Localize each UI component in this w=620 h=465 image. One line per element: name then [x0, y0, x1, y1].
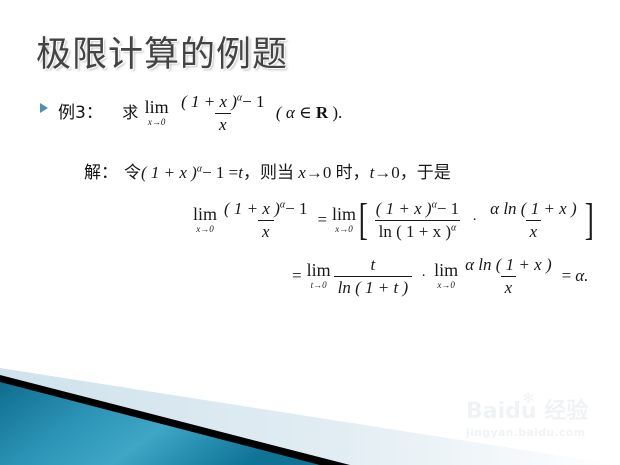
line1-dot: ·	[472, 212, 477, 229]
example-label: 例3：	[58, 103, 103, 123]
f1-denominator: ln ( 1 + x )α	[375, 220, 461, 242]
page-title: 极限计算的例题	[36, 26, 288, 77]
solution-comma1: ，则当	[243, 163, 294, 182]
line2-result-equals: =	[562, 266, 572, 286]
line2-dot: ·	[421, 268, 426, 285]
derivation-line-2: = lim t→0 t ln ( 1 + t ) · lim x→0 α ln …	[0, 255, 620, 297]
f1-num-base: ( 1 + x )	[376, 199, 432, 218]
rhs-limit-subscript: x→0	[335, 224, 353, 235]
line2-limit-2: lim x→0	[434, 261, 458, 291]
line1-fraction-2: α ln ( 1 + x ) x	[486, 199, 581, 241]
bracket-close: ]	[584, 204, 593, 236]
example-prefix: 求	[122, 105, 138, 122]
line2-fraction-1: t ln ( 1 + t )	[334, 255, 413, 297]
numerator-tail: − 1	[242, 92, 264, 111]
solution-arrow-zero-1: →0	[306, 163, 332, 182]
solution-text: 令( 1 + x )α− 1 =t，则当 x→0 时，t→0，于是	[124, 158, 451, 183]
f1-numerator: ( 1 + x )α− 1	[372, 199, 463, 220]
lhs-numerator: ( 1 + x )α− 1	[220, 199, 311, 220]
condition-close: ).	[328, 103, 342, 122]
line2-equals: =	[292, 266, 302, 286]
solution-var-x: x	[298, 163, 306, 182]
solution-expr-tail: − 1 =	[202, 163, 238, 182]
solution-row: 解： 令( 1 + x )α− 1 =t，则当 x→0 时，t→0，于是	[0, 158, 620, 183]
solution-arrow-zero-2: →0	[374, 163, 400, 182]
rhs-limit-operator: lim	[332, 205, 356, 223]
example-line: 例3： 求 lim x→0 ( 1 + x )α− 1 x ( α ∈ R ).	[58, 92, 342, 134]
line2-limit-1-operator: lim	[307, 261, 331, 279]
rhs-limit: lim x→0	[332, 205, 356, 235]
solution-expr-base: ( 1 + x )	[141, 163, 197, 182]
example-condition: ( α ∈ R ).	[276, 103, 342, 122]
line2-limit-1-subscript: t→0	[311, 280, 327, 291]
solution-tail: ，于是	[400, 163, 451, 182]
limit-subscript: x→0	[148, 117, 166, 128]
lhs-fraction: ( 1 + x )α− 1 x	[220, 199, 311, 241]
solution-label: 解：	[84, 158, 118, 183]
triangle-right-icon	[40, 103, 48, 113]
line1-equals: =	[317, 210, 327, 230]
example-bullet-row: 例3： 求 lim x→0 ( 1 + x )α− 1 x ( α ∈ R ).	[0, 92, 620, 134]
lhs-limit-subscript: x→0	[196, 224, 214, 235]
derivation-line-1: lim x→0 ( 1 + x )α− 1 x = lim x→0 [ ( 1 …	[0, 199, 620, 241]
lhs-limit-operator: lim	[193, 205, 217, 223]
fraction-numerator: ( 1 + x )α− 1	[177, 92, 268, 113]
fraction-denominator: x	[215, 113, 231, 135]
diagonal-band-decoration	[0, 355, 620, 465]
f1-den-function: ln ( 1 + x )	[379, 222, 451, 241]
numerator-base: ( 1 + x )	[181, 92, 237, 111]
example-fraction: ( 1 + x )α− 1 x	[177, 92, 268, 134]
lhs-num-base: ( 1 + x )	[224, 199, 280, 218]
lhs-denominator: x	[258, 220, 274, 242]
condition-set: R	[316, 103, 328, 122]
f2-denominator: x	[526, 220, 542, 242]
line2-limit-1: lim t→0	[307, 261, 331, 291]
line2-limit-2-operator: lim	[434, 261, 458, 279]
slide-body: 例3： 求 lim x→0 ( 1 + x )α− 1 x ( α ∈ R ).…	[0, 92, 620, 297]
f1-num-tail: − 1	[437, 199, 459, 218]
lhs-num-tail: − 1	[285, 199, 307, 218]
line2-f2-denominator: x	[501, 276, 517, 298]
lhs-limit: lim x→0	[193, 205, 217, 235]
f1-den-exponent: α	[451, 222, 456, 233]
bracket-open: [	[359, 204, 368, 236]
line2-limit-2-subscript: x→0	[437, 280, 455, 291]
solution-lead: 令	[124, 163, 141, 182]
line2-fraction-2: α ln ( 1 + x ) x	[461, 255, 556, 297]
line1-fraction-1: ( 1 + x )α− 1 ln ( 1 + x )α	[372, 199, 463, 241]
slide: 极限计算的例题 例3： 求 lim x→0 ( 1 + x )α− 1 x ( …	[0, 0, 620, 465]
f2-numerator: α ln ( 1 + x )	[486, 199, 581, 220]
condition-open: ( α ∈	[276, 103, 316, 122]
example-limit: lim x→0	[145, 98, 169, 128]
line2-result: α.	[575, 266, 588, 286]
line2-f1-denominator: ln ( 1 + t )	[334, 276, 413, 298]
diagonal-band-svg	[0, 355, 620, 465]
line2-f1-numerator: t	[366, 255, 379, 276]
limit-operator: lim	[145, 98, 169, 116]
line2-f2-numerator: α ln ( 1 + x )	[461, 255, 556, 276]
solution-when: 时，	[336, 163, 370, 182]
